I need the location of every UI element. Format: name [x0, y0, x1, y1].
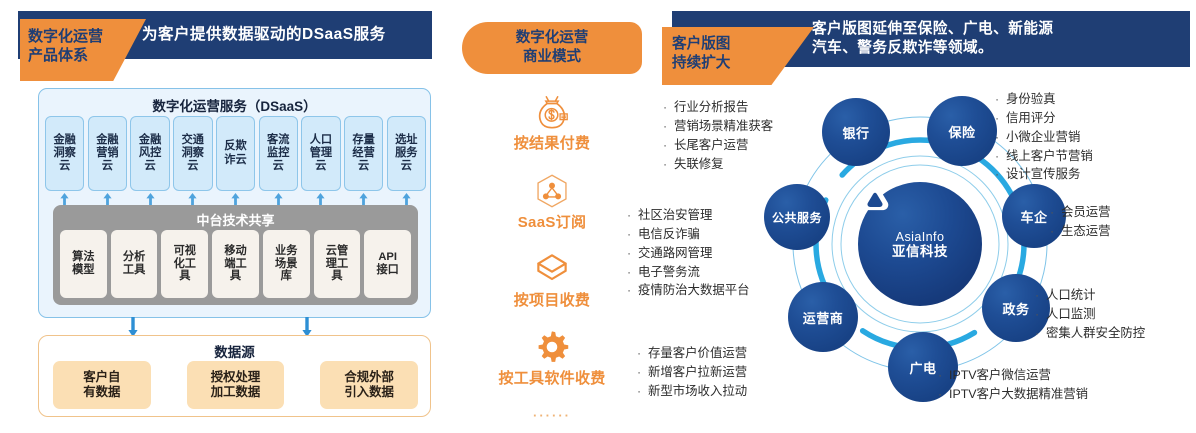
list-item: ·新增客户拉新运营: [637, 363, 747, 382]
tool-row: 算法 模型 分析 工具 可视 化工 具 移动 端工 具 业务 场景 库 云管 理…: [60, 230, 411, 298]
tool-box[interactable]: 业务 场景 库: [263, 230, 310, 298]
bullet-dot-icon: ·: [995, 165, 1006, 184]
tool-box[interactable]: 分析 工具: [111, 230, 158, 298]
core-name-en: AsiaInfo: [896, 230, 945, 244]
list-item: ·电子警务流: [627, 263, 750, 282]
network-nodes-icon: [462, 172, 642, 210]
bullet-dot-icon: ·: [627, 206, 638, 225]
bullet-dot-icon: ·: [1050, 222, 1061, 241]
business-model-header-tag: 数字化运营 商业模式: [462, 22, 642, 74]
cloud-box[interactable]: 人口 管理 云: [301, 116, 340, 191]
list-item: ·存量客户价值运营: [637, 344, 747, 363]
bullet-dot-icon: ·: [627, 263, 638, 282]
bullet-dot-icon: ·: [938, 385, 949, 404]
list-item: ·行业分析报告: [663, 98, 773, 117]
arrow-up-icon: [387, 192, 426, 206]
model-label: 按项目收费: [462, 289, 642, 310]
model-item-pay-by-result[interactable]: 按结果付费: [462, 93, 642, 153]
list-item: ·人口监测: [1035, 305, 1145, 324]
data-source-card: 数据源 客户自 有数据 授权处理 加工数据 合规外部 引入数据: [38, 335, 431, 417]
bullet-dot-icon: ·: [637, 382, 648, 401]
ecosystem-node-insurance[interactable]: 保险: [927, 96, 997, 166]
bullet-group-telecom-items: ·存量客户价值运营 ·新增客户拉新运营 ·新型市场收入拉动: [637, 344, 747, 401]
bullet-dot-icon: ·: [637, 344, 648, 363]
bullet-group-public-service-items: ·社区治安管理 ·电信反诈骗 ·交通路网管理 ·电子警务流 ·疫情防治大数据平台: [627, 206, 750, 300]
node-label: 银行: [842, 123, 869, 142]
bullet-dot-icon: ·: [637, 363, 648, 382]
dsaas-card-title: 数字化运营服务（DSaaS）: [39, 95, 430, 115]
bullet-group-bank-items: ·行业分析报告 ·营销场景精准获客 ·长尾客户运营 ·失联修复: [663, 98, 773, 173]
right-section-header-tag: 客户版图 持续扩大: [662, 27, 814, 85]
left-section-header-tag: 数字化运营 产品体系: [20, 19, 146, 81]
model-label: SaaS订阅: [462, 211, 642, 232]
upward-arrow-row: [45, 192, 426, 206]
data-source-row: 客户自 有数据 授权处理 加工数据 合规外部 引入数据: [53, 361, 418, 409]
bullet-dot-icon: ·: [995, 90, 1006, 109]
bullet-group-auto-items: ·会员运营 ·生态运营: [1050, 203, 1111, 241]
list-item: ·疫情防治大数据平台: [627, 281, 750, 300]
tool-box[interactable]: 云管 理工 具: [314, 230, 361, 298]
middle-platform-card: 中台技术共享 算法 模型 分析 工具 可视 化工 具 移动 端工 具 业务 场景…: [53, 205, 418, 305]
data-source-box[interactable]: 客户自 有数据: [53, 361, 151, 409]
infographic-root: 为客户提供数据驱动的DSaaS服务 数字化运营 产品体系 数字化运营服务（DSa…: [0, 0, 1196, 433]
arrow-up-icon: [45, 192, 84, 206]
list-item: ·密集人群安全防控: [1035, 324, 1145, 343]
tool-box[interactable]: 移动 端工 具: [212, 230, 259, 298]
list-item: ·人口统计: [1035, 286, 1145, 305]
list-item: ·线上客户节营销: [995, 147, 1093, 166]
bullet-group-government-items: ·人口统计 ·人口监测 ·密集人群安全防控: [1035, 286, 1145, 343]
model-label: 按结果付费: [462, 132, 642, 153]
bullet-dot-icon: ·: [627, 225, 638, 244]
arrow-up-icon: [259, 192, 298, 206]
list-item: ·身份验真: [995, 90, 1093, 109]
model-label: 按工具软件收费: [462, 367, 642, 388]
core-brand-node: AsiaInfo 亚信科技: [858, 182, 982, 306]
node-label: 政务: [1002, 299, 1029, 318]
cloud-box[interactable]: 反欺 诈云: [216, 116, 255, 191]
arrow-up-icon: [216, 192, 255, 206]
ecosystem-node-public-service[interactable]: 公共服务: [764, 184, 830, 250]
list-item: ·交通路网管理: [627, 244, 750, 263]
middle-platform-title: 中台技术共享: [53, 210, 418, 229]
bullet-group-insurance-items: ·身份验真 ·信用评分 ·小微企业营销 ·线上客户节营销 ·设计宣传服务: [995, 90, 1093, 184]
arrow-up-icon: [130, 192, 169, 206]
cloud-box[interactable]: 金融 营销 云: [88, 116, 127, 191]
list-item: ·IPTV客户大数据精准营销: [938, 385, 1088, 404]
tool-box[interactable]: 可视 化工 具: [161, 230, 208, 298]
node-label: 运营商: [803, 308, 844, 327]
model-item-pay-by-tool-software[interactable]: 按工具软件收费: [462, 328, 642, 388]
data-source-box[interactable]: 授权处理 加工数据: [187, 361, 285, 409]
arrow-up-icon: [173, 192, 212, 206]
arrow-up-icon: [344, 192, 383, 206]
arrow-up-icon: [301, 192, 340, 206]
cloud-box[interactable]: 金融 风控 云: [130, 116, 169, 191]
core-name-cn: 亚信科技: [892, 244, 948, 259]
business-model-header-tag-text: 数字化运营 商业模式: [516, 29, 589, 66]
bullet-dot-icon: ·: [627, 244, 638, 263]
list-item: ·营销场景精准获客: [663, 117, 773, 136]
left-section-header-tag-text: 数字化运营 产品体系: [28, 27, 132, 65]
ecosystem-node-bank[interactable]: 银行: [822, 98, 890, 166]
bullet-dot-icon: ·: [1035, 305, 1046, 324]
node-label: 车企: [1020, 207, 1047, 226]
bullet-group-media-items: ·IPTV客户微信运营 ·IPTV客户大数据精准营销: [938, 366, 1088, 404]
data-source-title: 数据源: [39, 341, 430, 361]
bullet-dot-icon: ·: [995, 147, 1006, 166]
tool-box[interactable]: 算法 模型: [60, 230, 107, 298]
list-item: ·设计宣传服务: [995, 165, 1093, 184]
bullet-dot-icon: ·: [627, 281, 638, 300]
ecosystem-node-telecom[interactable]: 运营商: [788, 282, 858, 352]
arrow-up-icon: [88, 192, 127, 206]
cloud-box[interactable]: 存量 经营 云: [344, 116, 383, 191]
gear-icon: [462, 328, 642, 366]
bullet-dot-icon: ·: [663, 136, 674, 155]
bullet-dot-icon: ·: [995, 128, 1006, 147]
left-section-header-text: 为客户提供数据驱动的DSaaS服务: [142, 25, 386, 45]
cloud-box[interactable]: 交通 洞察 云: [173, 116, 212, 191]
model-item-pay-by-project[interactable]: 按项目收费: [462, 250, 642, 310]
model-ellipsis: ······: [462, 408, 642, 423]
list-item: ·社区治安管理: [627, 206, 750, 225]
list-item: ·电信反诈骗: [627, 225, 750, 244]
list-item: ·生态运营: [1050, 222, 1111, 241]
tool-box[interactable]: API 接口: [364, 230, 411, 298]
right-section-header-tag-text: 客户版图 持续扩大: [672, 35, 784, 73]
cloud-box[interactable]: 客流 监控 云: [259, 116, 298, 191]
cloud-box[interactable]: 选址 服务 云: [387, 116, 426, 191]
downward-arrow-row: [38, 317, 431, 337]
bullet-dot-icon: ·: [1035, 286, 1046, 305]
list-item: ·长尾客户运营: [663, 136, 773, 155]
cloud-box[interactable]: 金融 洞察 云: [45, 116, 84, 191]
dsaas-service-card: 数字化运营服务（DSaaS） 金融 洞察 云 金融 营销 云 金融 风控 云 交…: [38, 88, 431, 318]
list-item: ·失联修复: [663, 155, 773, 174]
list-item: ·信用评分: [995, 109, 1093, 128]
node-label: 广电: [909, 358, 936, 377]
bullet-dot-icon: ·: [1050, 203, 1061, 222]
bullet-dot-icon: ·: [663, 117, 674, 136]
cloud-product-row: 金融 洞察 云 金融 营销 云 金融 风控 云 交通 洞察 云 反欺 诈云 客流…: [45, 116, 426, 191]
right-section-header-text: 客户版图延伸至保险、广电、新能源 汽车、警务反欺诈等领域。: [812, 20, 1054, 57]
node-label: 公共服务: [772, 209, 822, 226]
bullet-dot-icon: ·: [663, 98, 674, 117]
bullet-dot-icon: ·: [663, 155, 674, 174]
data-source-box[interactable]: 合规外部 引入数据: [320, 361, 418, 409]
model-item-saas-subscription[interactable]: SaaS订阅: [462, 172, 642, 232]
bullet-dot-icon: ·: [995, 109, 1006, 128]
list-item: ·IPTV客户微信运营: [938, 366, 1088, 385]
stacked-layers-icon: [462, 250, 642, 288]
bullet-dot-icon: ·: [938, 366, 949, 385]
list-item: ·小微企业营销: [995, 128, 1093, 147]
node-label: 保险: [948, 122, 975, 141]
list-item: ·新型市场收入拉动: [637, 382, 747, 401]
list-item: ·会员运营: [1050, 203, 1111, 222]
money-bag-icon: [462, 93, 642, 131]
bullet-dot-icon: ·: [1035, 324, 1046, 343]
